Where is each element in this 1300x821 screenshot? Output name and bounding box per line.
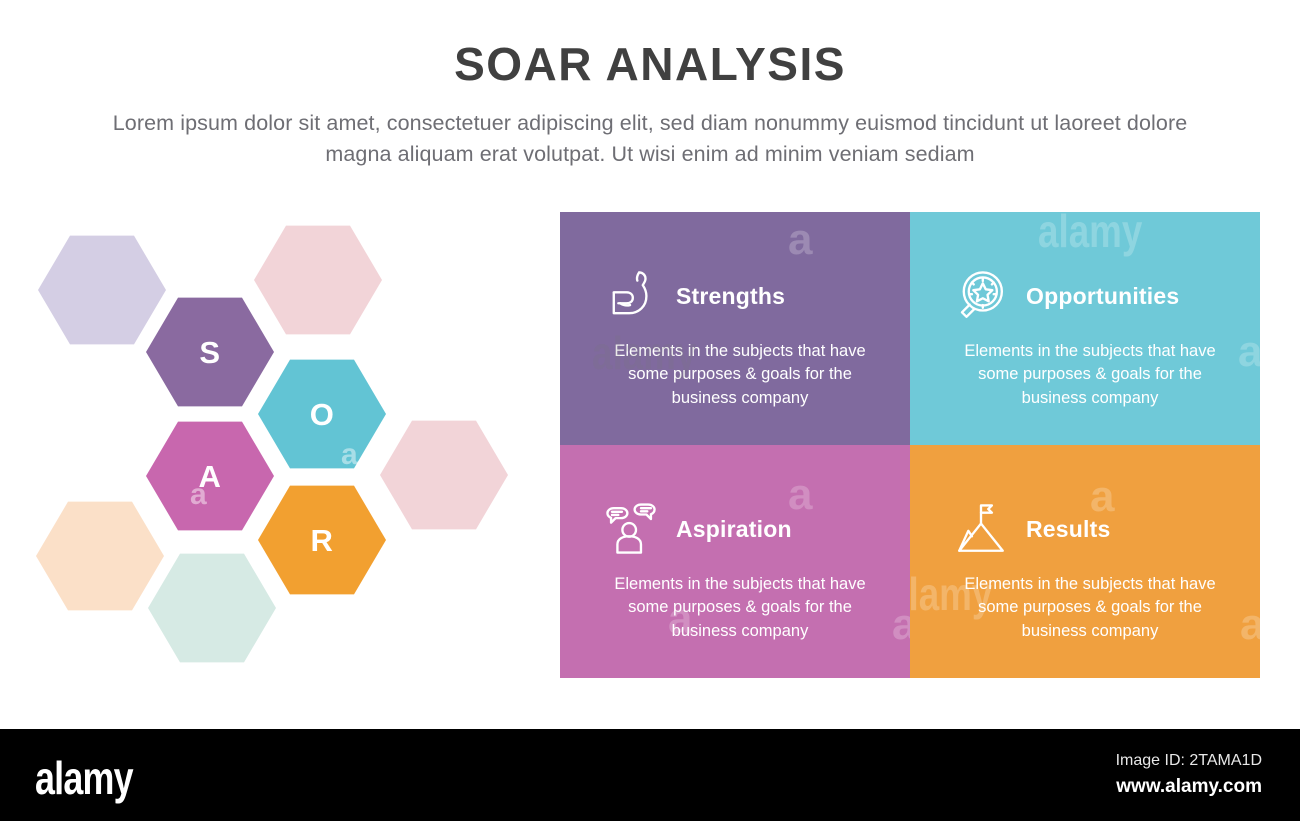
quadrant-aspiration-title: Aspiration bbox=[676, 516, 792, 543]
watermark-letter: a bbox=[788, 218, 812, 262]
soar-quadrant-grid: Strengths Elements in the subjects that … bbox=[560, 212, 1260, 678]
hexagon-letter-a-label: A bbox=[199, 461, 222, 492]
quadrant-opportunities[interactable]: Opportunities Elements in the subjects t… bbox=[910, 212, 1260, 445]
quadrant-strengths-header: Strengths bbox=[600, 258, 880, 334]
magnifier-star-icon bbox=[950, 265, 1012, 327]
flexed-bicep-icon bbox=[600, 265, 662, 327]
quadrant-results-title: Results bbox=[1026, 516, 1110, 543]
hexagon-letter-r-label: R bbox=[311, 525, 334, 556]
watermark-letter: a bbox=[892, 603, 910, 647]
alamy-bar-meta: Image ID: 2TAMA1D www.alamy.com bbox=[1116, 749, 1262, 802]
hexagon-letter-s-label: S bbox=[199, 337, 220, 368]
page-subtitle: Lorem ipsum dolor sit amet, consectetuer… bbox=[90, 108, 1210, 169]
hexagon-decor-pale-pink-top bbox=[254, 224, 382, 336]
quadrant-opportunities-body: Elements in the subjects that have some … bbox=[950, 340, 1230, 410]
quadrant-aspiration-header: Aspiration bbox=[600, 491, 880, 567]
alamy-logo: alamy bbox=[35, 751, 133, 805]
quadrant-strengths-body: Elements in the subjects that have some … bbox=[600, 340, 880, 410]
quadrant-results-body: Elements in the subjects that have some … bbox=[950, 573, 1230, 643]
quadrant-opportunities-title: Opportunities bbox=[1026, 283, 1179, 310]
infographic-canvas: SOAR ANALYSIS Lorem ipsum dolor sit amet… bbox=[0, 0, 1300, 821]
quadrant-aspiration-body: Elements in the subjects that have some … bbox=[600, 573, 880, 643]
hexagon-decor-pale-lavender bbox=[38, 234, 166, 346]
page-title: SOAR ANALYSIS bbox=[0, 40, 1300, 88]
watermark-word: alamy bbox=[1038, 212, 1142, 254]
quadrant-aspiration[interactable]: Aspiration Elements in the subjects that… bbox=[560, 445, 910, 678]
hexagon-decor-pale-peach bbox=[36, 500, 164, 612]
alamy-watermark-bar: alamy Image ID: 2TAMA1D www.alamy.com bbox=[0, 729, 1300, 821]
hexagon-decor-pale-mint bbox=[148, 552, 276, 664]
hexagon-decor-pale-pink-right bbox=[380, 419, 508, 531]
person-speech-bubbles-icon bbox=[600, 498, 662, 560]
hexagon-cluster: S O A R a a bbox=[30, 212, 510, 672]
hexagon-letter-r[interactable]: R bbox=[258, 484, 386, 596]
hexagon-letter-o-label: O bbox=[310, 399, 335, 430]
alamy-url-label: www.alamy.com bbox=[1116, 773, 1262, 802]
hexagon-letter-a[interactable]: A bbox=[146, 420, 274, 532]
quadrant-results-header: Results bbox=[950, 491, 1230, 567]
quadrant-strengths-title: Strengths bbox=[676, 283, 785, 310]
hexagon-letter-o[interactable]: O bbox=[258, 358, 386, 470]
quadrant-opportunities-header: Opportunities bbox=[950, 258, 1230, 334]
quadrant-results[interactable]: Results Elements in the subjects that ha… bbox=[910, 445, 1260, 678]
watermark-letter: a bbox=[1238, 330, 1260, 374]
image-id-label: Image ID: 2TAMA1D bbox=[1116, 749, 1262, 773]
watermark-letter: a bbox=[1240, 603, 1260, 647]
hexagon-letter-s[interactable]: S bbox=[146, 296, 274, 408]
quadrant-strengths[interactable]: Strengths Elements in the subjects that … bbox=[560, 212, 910, 445]
mountain-flag-icon bbox=[950, 498, 1012, 560]
